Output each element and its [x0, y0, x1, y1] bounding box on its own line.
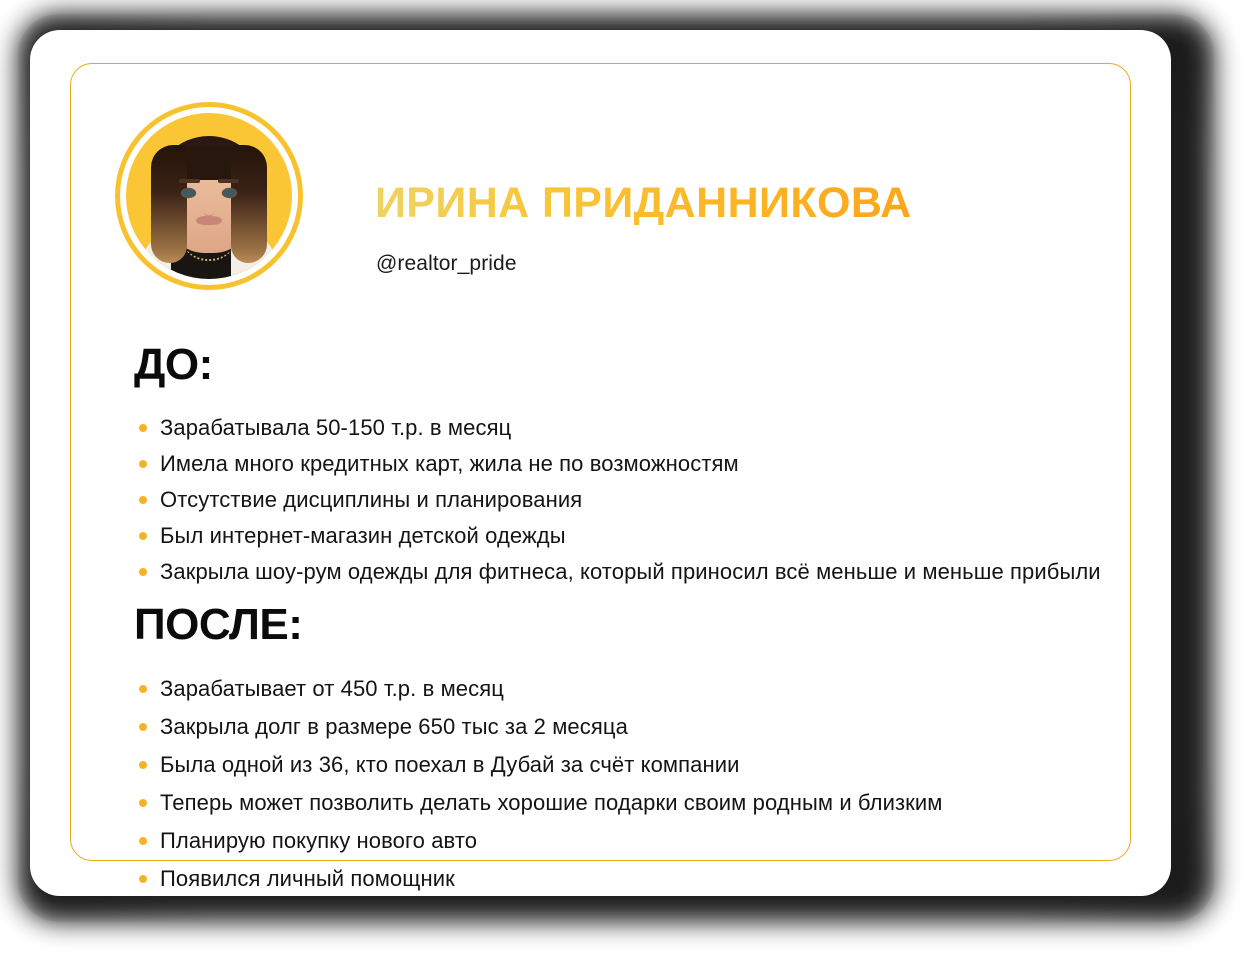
- bullet-dot-icon: [139, 424, 147, 432]
- list-item: Зарабатывает от 450 т.р. в месяц: [134, 670, 943, 708]
- bullet-dot-icon: [139, 685, 147, 693]
- list-item: Была одной из 36, кто поехал в Дубай за …: [134, 746, 943, 784]
- list-item-label: Закрыла долг в размере 650 тыс за 2 меся…: [160, 714, 628, 739]
- list-item: Теперь может позволить делать хорошие по…: [134, 784, 943, 822]
- profile-name: ИРИНА ПРИДАННИКОВА: [375, 182, 912, 225]
- avatar-hair-right: [231, 145, 267, 263]
- bullet-dot-icon: [139, 875, 147, 883]
- bullet-dot-icon: [139, 799, 147, 807]
- list-item-label: Отсутствие дисциплины и планирования: [160, 487, 582, 512]
- section-title-before: ДО:: [134, 343, 213, 387]
- bullet-dot-icon: [139, 460, 147, 468]
- avatar-nose: [204, 203, 214, 217]
- list-item: Закрыла шоу-рум одежды для фитнеса, кото…: [134, 554, 1101, 590]
- list-item-label: Теперь может позволить делать хорошие по…: [160, 790, 943, 815]
- avatar-mouth: [196, 216, 222, 225]
- list-item-label: Была одной из 36, кто поехал в Дубай за …: [160, 752, 740, 777]
- avatar-brow-right: [218, 179, 239, 183]
- list-item-label: Планирую покупку нового авто: [160, 828, 477, 853]
- bullet-dot-icon: [139, 496, 147, 504]
- list-item-label: Был интернет-магазин детской одежды: [160, 523, 566, 548]
- card-header: ИРИНА ПРИДАННИКОВА @realtor_pride: [30, 30, 1171, 260]
- list-item: Отсутствие дисциплины и планирования: [134, 482, 1101, 518]
- list-item-label: Зарабатывала 50-150 т.р. в месяц: [160, 415, 511, 440]
- list-item: Закрыла долг в размере 650 тыс за 2 меся…: [134, 708, 943, 746]
- list-after: Зарабатывает от 450 т.р. в месяцЗакрыла …: [134, 670, 943, 898]
- screenshot-stage: ИРИНА ПРИДАННИКОВА @realtor_pride ДО: За…: [0, 0, 1245, 955]
- list-item: Зарабатывала 50-150 т.р. в месяц: [134, 410, 1101, 446]
- section-title-after: ПОСЛЕ:: [134, 603, 302, 647]
- bullet-dot-icon: [139, 837, 147, 845]
- list-item: Был интернет-магазин детской одежды: [134, 518, 1101, 554]
- avatar-eye-right: [223, 189, 236, 197]
- bullet-dot-icon: [139, 723, 147, 731]
- list-item-label: Появился личный помощник: [160, 866, 455, 891]
- bullet-dot-icon: [139, 761, 147, 769]
- list-item-label: Закрыла шоу-рум одежды для фитнеса, кото…: [160, 559, 1101, 584]
- list-item-label: Зарабатывает от 450 т.р. в месяц: [160, 676, 504, 701]
- bullet-dot-icon: [139, 532, 147, 540]
- list-item: Появился личный помощник: [134, 860, 943, 898]
- avatar: [115, 102, 303, 290]
- avatar-eye-left: [182, 189, 195, 197]
- list-item: Имела много кредитных карт, жила не по в…: [134, 446, 1101, 482]
- profile-handle: @realtor_pride: [376, 252, 517, 276]
- list-item: Планирую покупку нового авто: [134, 822, 943, 860]
- avatar-brow-left: [179, 179, 200, 183]
- bullet-dot-icon: [139, 568, 147, 576]
- portrait-avatar-icon: [126, 113, 292, 279]
- list-before: Зарабатывала 50-150 т.р. в месяцИмела мн…: [134, 410, 1101, 590]
- avatar-hair-left: [151, 145, 187, 263]
- list-item-label: Имела много кредитных карт, жила не по в…: [160, 451, 739, 476]
- profile-card: ИРИНА ПРИДАННИКОВА @realtor_pride ДО: За…: [30, 30, 1171, 896]
